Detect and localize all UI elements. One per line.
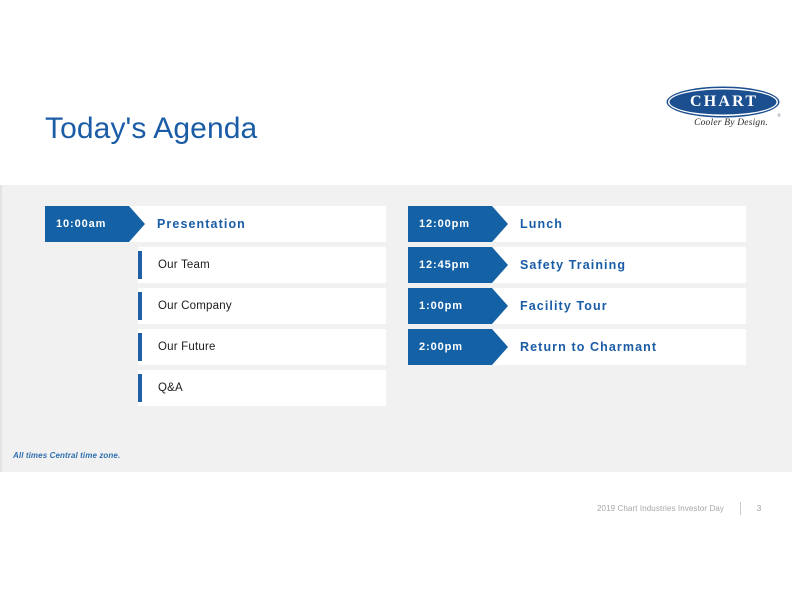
slide-footer: 2019 Chart Industries Investor Day 3 bbox=[597, 501, 763, 515]
logo-badge: CHART ® bbox=[668, 88, 778, 116]
sub-item-label: Our Company bbox=[158, 288, 232, 324]
agenda-row[interactable]: 10:00am Presentation bbox=[45, 206, 386, 242]
footer-label: 2019 Chart Industries Investor Day bbox=[597, 504, 724, 513]
agenda-item-label: Lunch bbox=[520, 206, 563, 242]
sub-item-accent-bar bbox=[138, 333, 142, 361]
agenda-item-label: Facility Tour bbox=[520, 288, 608, 324]
logo-tagline: Cooler By Design. bbox=[684, 118, 778, 128]
agenda-time-chevron: 1:00pm bbox=[408, 288, 508, 324]
agenda-container: 10:00am Presentation Our Team Our Compan… bbox=[0, 185, 792, 472]
agenda-time-chevron: 12:00pm bbox=[408, 206, 508, 242]
agenda-sub-row[interactable]: Q&A bbox=[138, 370, 386, 406]
slide-canvas: Today's Agenda CHART ® Cooler By Design.… bbox=[0, 0, 792, 612]
agenda-time-chevron: 10:00am bbox=[45, 206, 145, 242]
agenda-sub-row[interactable]: Our Team bbox=[138, 247, 386, 283]
agenda-row[interactable]: 1:00pm Facility Tour bbox=[408, 288, 746, 324]
footnote: All times Central time zone. bbox=[13, 451, 120, 460]
agenda-item-label: Presentation bbox=[157, 206, 246, 242]
agenda-time-chevron: 2:00pm bbox=[408, 329, 508, 365]
agenda-sub-row[interactable]: Our Future bbox=[138, 329, 386, 365]
sub-item-label: Our Future bbox=[158, 329, 216, 365]
footer-divider bbox=[740, 502, 741, 515]
page-title: Today's Agenda bbox=[45, 112, 257, 146]
chart-logo: CHART ® Cooler By Design. bbox=[668, 88, 782, 138]
sub-item-accent-bar bbox=[138, 251, 142, 279]
agenda-item-label: Return to Charmant bbox=[520, 329, 657, 365]
agenda-row[interactable]: 12:45pm Safety Training bbox=[408, 247, 746, 283]
agenda-column-right: 12:00pm Lunch 12:45pm Safety Training 1:… bbox=[408, 206, 746, 370]
agenda-item-label: Safety Training bbox=[520, 247, 626, 283]
agenda-row[interactable]: 2:00pm Return to Charmant bbox=[408, 329, 746, 365]
logo-ellipse-shape: CHART bbox=[668, 88, 778, 116]
agenda-column-left: 10:00am Presentation Our Team Our Compan… bbox=[45, 206, 386, 411]
page-number: 3 bbox=[755, 503, 763, 513]
agenda-sub-row[interactable]: Our Company bbox=[138, 288, 386, 324]
sub-item-label: Our Team bbox=[158, 247, 210, 283]
sub-item-accent-bar bbox=[138, 292, 142, 320]
sub-item-label: Q&A bbox=[158, 370, 183, 406]
agenda-time-chevron: 12:45pm bbox=[408, 247, 508, 283]
sub-item-accent-bar bbox=[138, 374, 142, 402]
logo-wordmark: CHART bbox=[688, 94, 758, 110]
agenda-row[interactable]: 12:00pm Lunch bbox=[408, 206, 746, 242]
